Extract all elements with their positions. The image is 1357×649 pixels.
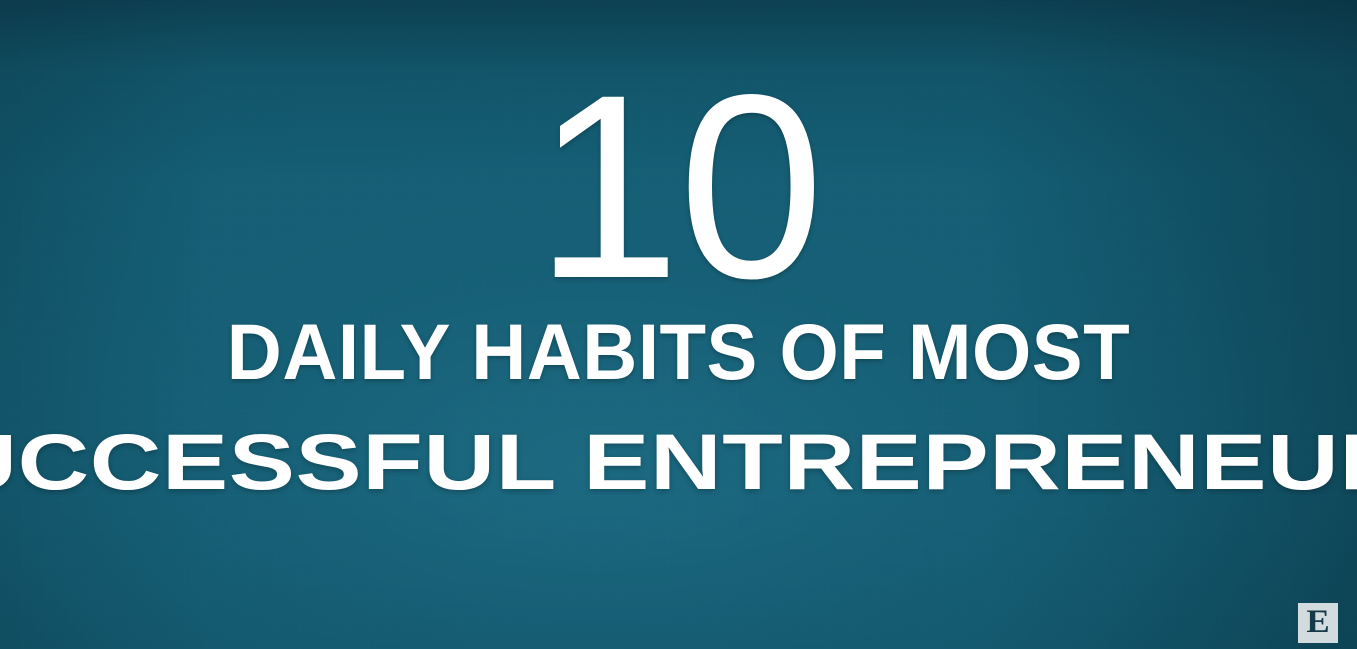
headline-line-2: SUCCESSFUL ENTREPRENEURS [0,422,1357,501]
title-slide: 10 DAILY HABITS OF MOST SUCCESSFUL ENTRE… [0,0,1357,649]
headline-line-1: DAILY HABITS OF MOST [24,312,1334,391]
headline-number: 10 [0,56,1357,318]
entrepreneur-logo: E [1298,603,1338,643]
headline-block: 10 DAILY HABITS OF MOST SUCCESSFUL ENTRE… [0,0,1357,649]
logo-letter-e: E [1306,606,1329,639]
